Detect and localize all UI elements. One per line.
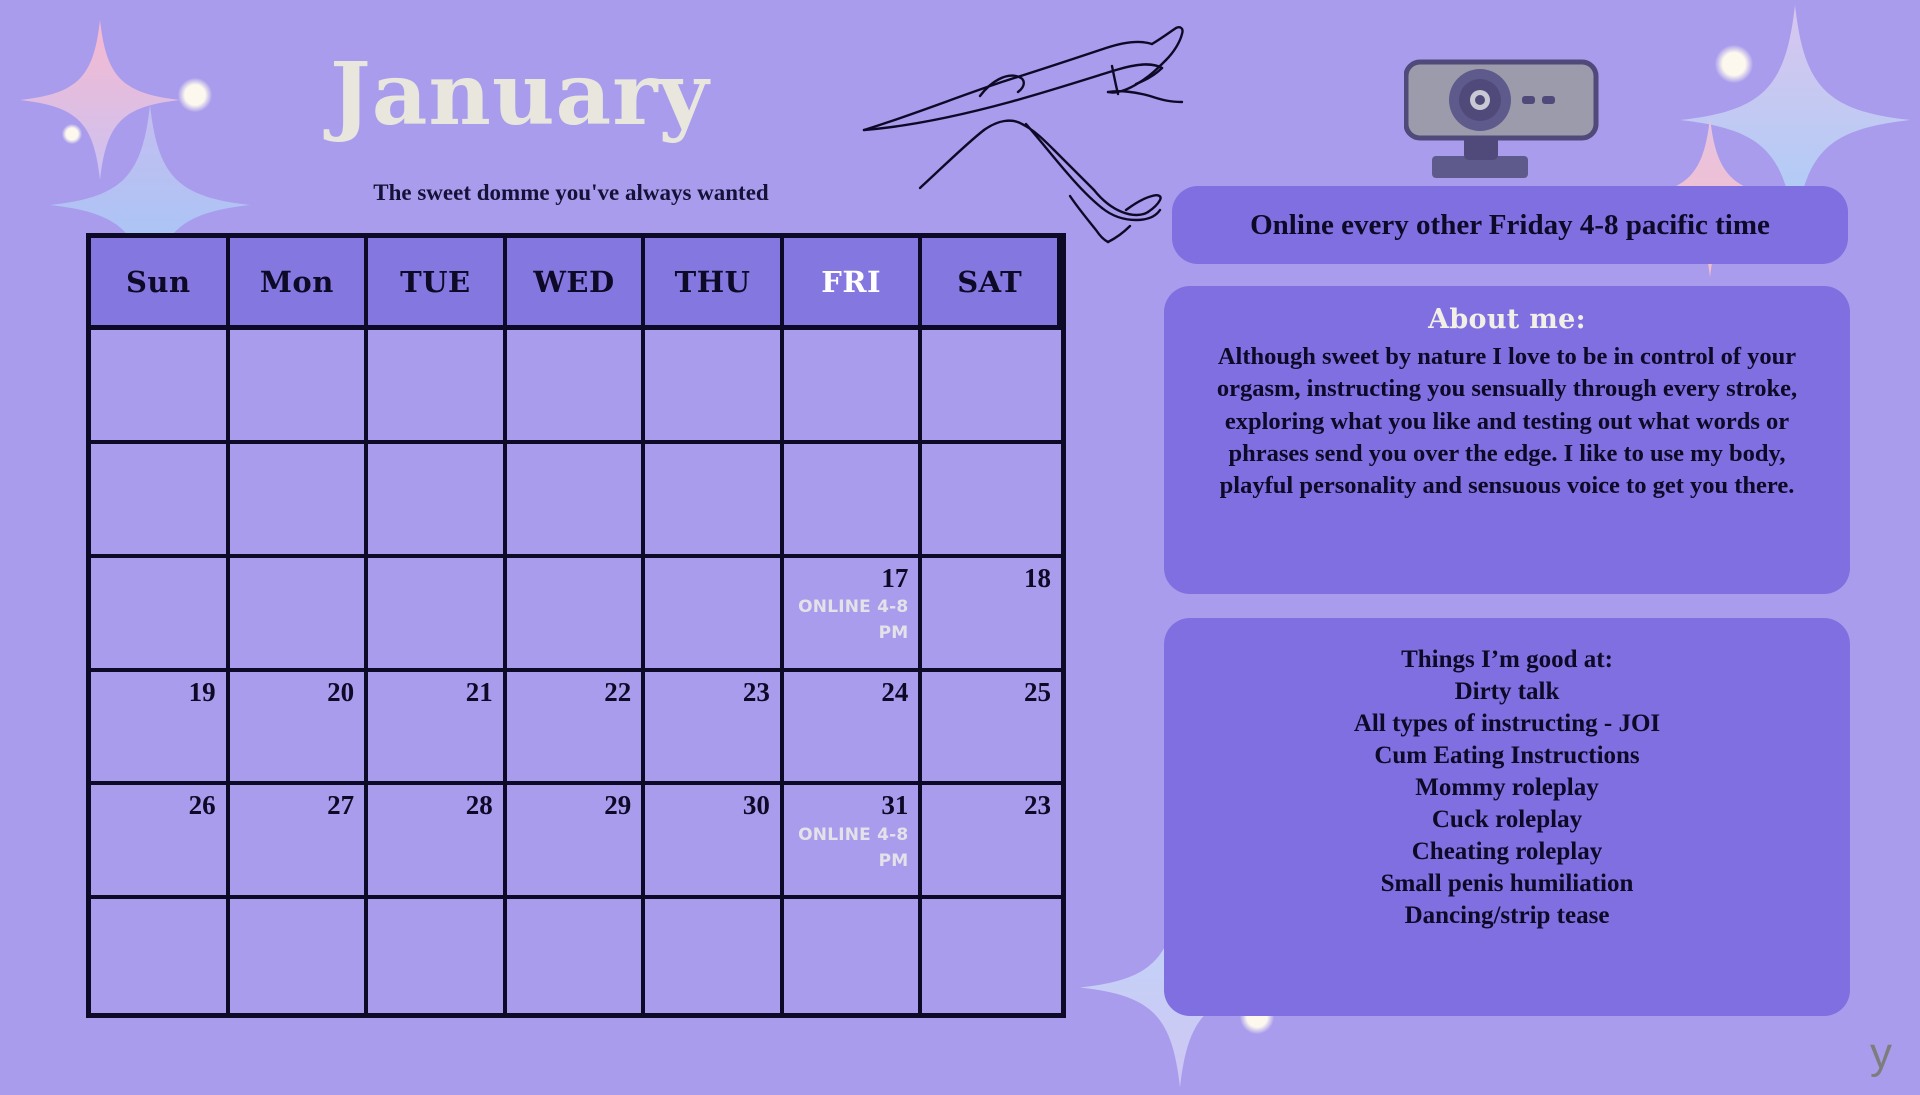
banner-text: Online every other Friday 4-8 pacific ti…: [1250, 209, 1770, 242]
calendar-day-cell[interactable]: 31ONLINE 4-8 PM: [784, 785, 923, 899]
calendar-day-cell[interactable]: 28: [368, 785, 507, 899]
calendar-day-cell[interactable]: [91, 444, 230, 558]
skills-card: Things I’m good at: Dirty talkAll types …: [1164, 618, 1850, 1016]
calendar-day-number: 28: [466, 791, 493, 819]
sparkle-icon: [20, 10, 180, 190]
calendar-day-cell[interactable]: 19: [91, 672, 230, 786]
calendar-day-cell[interactable]: 21: [368, 672, 507, 786]
calendar-day-header: SAT: [922, 238, 1061, 330]
corner-letter: y: [1870, 1032, 1892, 1076]
calendar-day-cell[interactable]: [507, 899, 646, 1013]
calendar-day-cell[interactable]: 23: [922, 785, 1061, 899]
sparkle-dot-icon: [1715, 45, 1753, 83]
calendar-day-number: 23: [743, 678, 770, 706]
calendar-day-number: 27: [327, 791, 354, 819]
calendar-day-cell[interactable]: [784, 899, 923, 1013]
calendar-day-cell[interactable]: 22: [507, 672, 646, 786]
calendar-day-number: 24: [881, 678, 908, 706]
calendar-day-cell[interactable]: [368, 330, 507, 444]
calendar-day-note: ONLINE 4-8 PM: [784, 594, 909, 647]
calendar-day-cell[interactable]: 17ONLINE 4-8 PM: [784, 558, 923, 672]
calendar-day-cell[interactable]: [922, 330, 1061, 444]
calendar-day-cell[interactable]: [507, 558, 646, 672]
sparkle-dot-icon: [178, 78, 212, 112]
calendar-day-header: THU: [645, 238, 784, 330]
skills-list-item: All types of instructing - JOI: [1194, 708, 1820, 740]
calendar-day-number: 19: [189, 678, 216, 706]
calendar-day-header: TUE: [368, 238, 507, 330]
calendar-day-header: WED: [507, 238, 646, 330]
calendar-day-cell[interactable]: 29: [507, 785, 646, 899]
calendar-day-cell[interactable]: 27: [230, 785, 369, 899]
skills-heading: Things I’m good at:: [1194, 644, 1820, 676]
poster-canvas: January The sweet domme you've always wa…: [0, 0, 1920, 1080]
calendar-day-cell[interactable]: [645, 444, 784, 558]
calendar-day-cell[interactable]: [368, 444, 507, 558]
calendar-day-cell[interactable]: 23: [645, 672, 784, 786]
tagline: The sweet domme you've always wanted: [336, 180, 806, 206]
calendar-day-header: Sun: [91, 238, 230, 330]
calendar-day-cell[interactable]: [784, 444, 923, 558]
calendar-day-number: 20: [327, 678, 354, 706]
calendar-day-cell[interactable]: [230, 444, 369, 558]
skills-list-item: Dancing/strip tease: [1194, 900, 1820, 932]
calendar-day-cell[interactable]: [230, 330, 369, 444]
calendar-day-number: 21: [466, 678, 493, 706]
skills-list-item: Cuck roleplay: [1194, 804, 1820, 836]
calendar-day-number: 18: [1024, 564, 1051, 592]
about-me-card: About me: Although sweet by nature I lov…: [1164, 286, 1850, 594]
calendar-day-cell[interactable]: [91, 899, 230, 1013]
online-schedule-banner: Online every other Friday 4-8 pacific ti…: [1172, 186, 1848, 264]
calendar-day-header: Mon: [230, 238, 369, 330]
skills-list-item: Dirty talk: [1194, 676, 1820, 708]
calendar-day-number: 26: [189, 791, 216, 819]
skills-list-item: Mommy roleplay: [1194, 772, 1820, 804]
calendar-day-cell[interactable]: [91, 558, 230, 672]
calendar-day-number: 25: [1024, 678, 1051, 706]
calendar-day-number: 23: [1024, 791, 1051, 819]
calendar-day-number: 22: [604, 678, 631, 706]
skills-list-item: Cheating roleplay: [1194, 836, 1820, 868]
calendar-day-cell[interactable]: 30: [645, 785, 784, 899]
skills-list-item: Cum Eating Instructions: [1194, 740, 1820, 772]
skills-list-item: Small penis humiliation: [1194, 868, 1820, 900]
calendar-day-cell[interactable]: 20: [230, 672, 369, 786]
calendar-day-cell[interactable]: 18: [922, 558, 1061, 672]
calendar-day-number: 31: [881, 791, 908, 819]
calendar-day-cell[interactable]: [507, 330, 646, 444]
calendar-day-cell[interactable]: [91, 330, 230, 444]
calendar-day-cell[interactable]: [784, 330, 923, 444]
calendar-day-note: ONLINE 4-8 PM: [784, 822, 909, 875]
calendar-day-cell[interactable]: [645, 558, 784, 672]
calendar-day-cell[interactable]: [230, 558, 369, 672]
calendar-day-cell[interactable]: [922, 444, 1061, 558]
calendar-day-cell[interactable]: 25: [922, 672, 1061, 786]
calendar-day-number: 30: [743, 791, 770, 819]
calendar-day-cell[interactable]: [368, 899, 507, 1013]
calendar-day-cell[interactable]: [368, 558, 507, 672]
calendar-day-number: 29: [604, 791, 631, 819]
calendar-day-header: FRI: [784, 238, 923, 330]
calendar-day-number: 17: [881, 564, 908, 592]
calendar-day-cell[interactable]: [922, 899, 1061, 1013]
calendar-day-cell[interactable]: 26: [91, 785, 230, 899]
calendar-day-cell[interactable]: [507, 444, 646, 558]
calendar-day-cell[interactable]: [230, 899, 369, 1013]
calendar-grid: SunMonTUEWEDTHUFRISAT17ONLINE 4-8 PM1819…: [86, 233, 1066, 1018]
webcam-icon: [1404, 58, 1604, 183]
about-me-body: Although sweet by nature I love to be in…: [1198, 341, 1816, 503]
legs-line-art-illustration: [840, 18, 1190, 248]
calendar-day-cell[interactable]: 24: [784, 672, 923, 786]
calendar-day-cell[interactable]: [645, 330, 784, 444]
calendar-day-cell[interactable]: [645, 899, 784, 1013]
about-me-heading: About me:: [1198, 304, 1816, 335]
sparkle-dot-icon: [62, 124, 82, 144]
month-title: January: [330, 52, 709, 138]
